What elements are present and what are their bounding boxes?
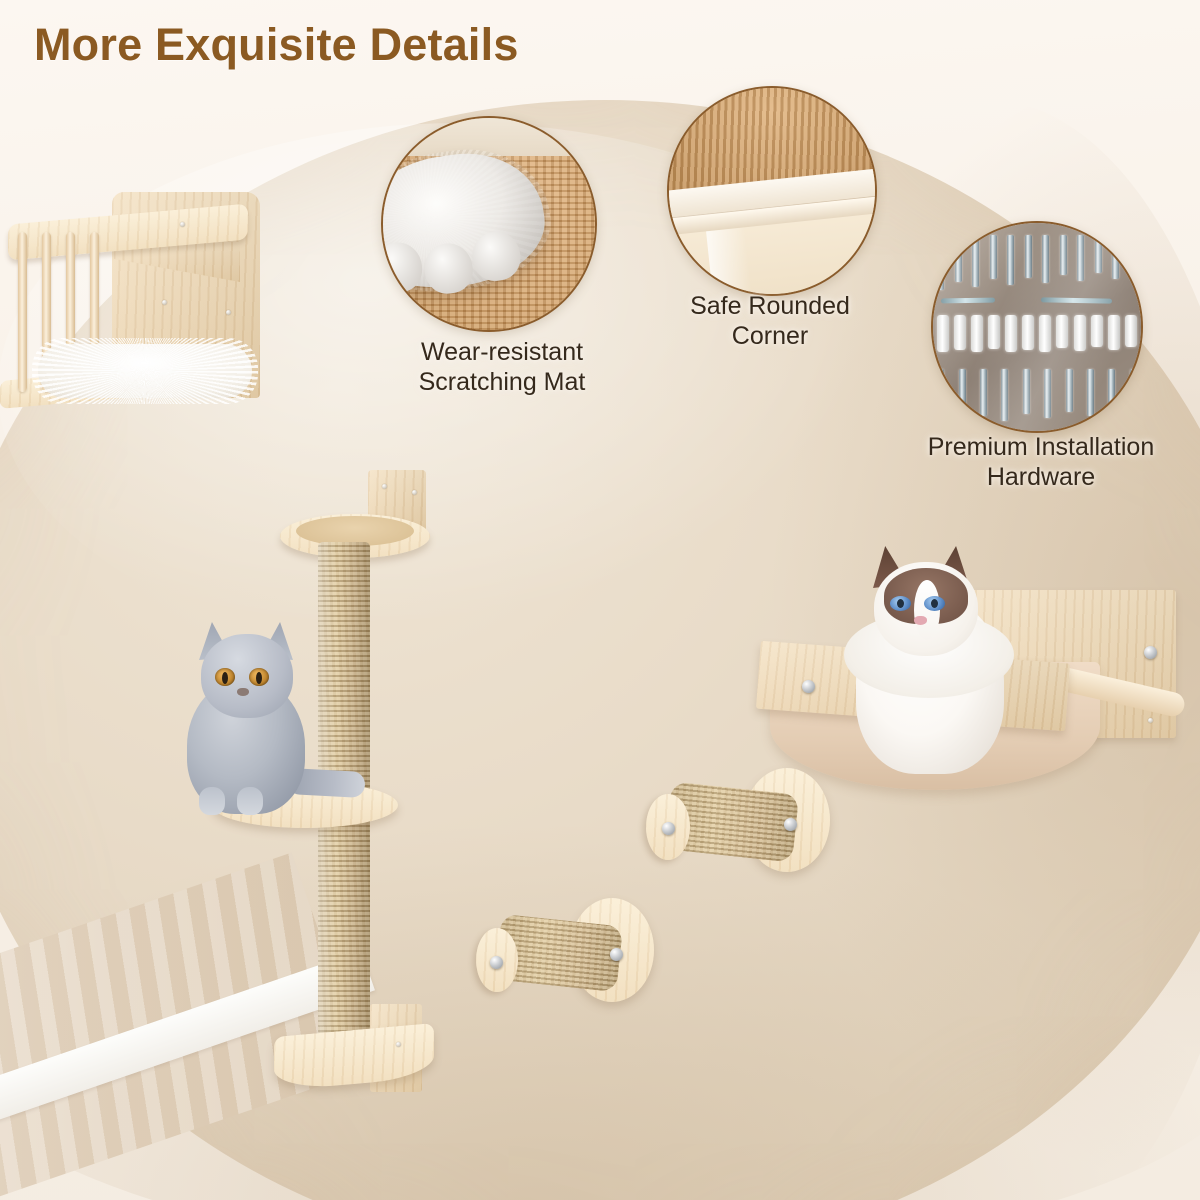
cat-eye bbox=[215, 668, 235, 686]
cat-eye bbox=[249, 668, 269, 686]
product-detail-banner: More Exquisite Details Wear-resistant Sc… bbox=[0, 0, 1200, 1200]
cat-pupil bbox=[222, 672, 228, 684]
plastic-film-gloss bbox=[933, 223, 1141, 431]
cat-eye bbox=[924, 596, 945, 611]
cylinder-step-upper bbox=[632, 766, 832, 886]
screw-head bbox=[162, 300, 167, 305]
mat-edge bbox=[383, 118, 595, 156]
caption-line-2: Scratching Mat bbox=[371, 368, 633, 398]
hardware-blister-pack bbox=[933, 223, 1141, 431]
wood-knot bbox=[1148, 718, 1153, 723]
screw-head bbox=[1144, 646, 1157, 659]
screw-head bbox=[180, 222, 185, 227]
callout-image-hardware bbox=[931, 221, 1143, 433]
caption-line-2: Hardware bbox=[876, 463, 1200, 493]
cylinder-step-lower bbox=[470, 898, 660, 1016]
cat-eye bbox=[890, 596, 911, 611]
callout-safe-rounded-corner: Safe Rounded Corner bbox=[667, 86, 877, 296]
page-title: More Exquisite Details bbox=[34, 22, 519, 67]
caption-line-1: Safe Rounded bbox=[637, 292, 903, 322]
caption-line-1: Wear-resistant bbox=[371, 338, 633, 368]
callout-image-scratching-mat bbox=[381, 116, 597, 332]
cat-front-leg bbox=[199, 787, 225, 815]
callout-caption-hardware: Premium Installation Hardware bbox=[876, 433, 1200, 492]
screw-head bbox=[784, 818, 797, 831]
cat-pupil bbox=[897, 599, 904, 608]
callout-image-rounded-corner bbox=[667, 86, 877, 296]
condo-plush-cushion bbox=[38, 344, 252, 398]
screw-head bbox=[226, 310, 231, 315]
caption-line-2: Corner bbox=[637, 322, 903, 352]
grey-cat bbox=[175, 620, 340, 815]
cat-pupil bbox=[256, 672, 262, 684]
caption-line-1: Premium Installation bbox=[876, 433, 1200, 463]
cat-condo bbox=[0, 192, 262, 404]
ragdoll-cat bbox=[840, 546, 1025, 796]
screw-head bbox=[396, 1042, 401, 1047]
callout-caption-rounded-corner: Safe Rounded Corner bbox=[637, 292, 903, 351]
cat-front-leg bbox=[237, 787, 263, 815]
callout-premium-installation-hardware: Premium Installation Hardware bbox=[931, 221, 1143, 433]
screw-head bbox=[802, 680, 815, 693]
cat-pupil bbox=[931, 599, 938, 608]
cat-nose bbox=[237, 688, 249, 696]
callout-wear-resistant-scratching-mat: Wear-resistant Scratching Mat bbox=[381, 116, 597, 332]
cat-nose bbox=[914, 616, 927, 625]
callout-caption-scratching-mat: Wear-resistant Scratching Mat bbox=[371, 338, 633, 397]
screw-head bbox=[610, 948, 623, 961]
condo-dowel-bar bbox=[18, 232, 27, 392]
screw-head bbox=[412, 490, 417, 495]
screw-head bbox=[662, 822, 675, 835]
screw-head bbox=[382, 484, 387, 489]
screw-head bbox=[490, 956, 503, 969]
